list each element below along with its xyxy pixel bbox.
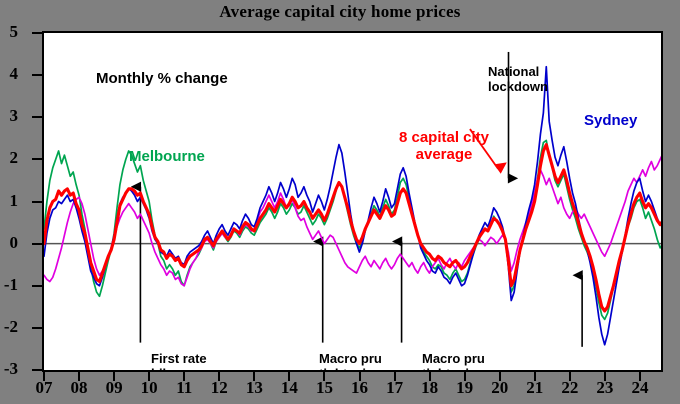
x-tick-label: 09	[97, 378, 131, 398]
y-tick-label: -1	[0, 275, 18, 295]
x-tick-mark	[183, 372, 185, 381]
y-tick-mark	[32, 285, 42, 287]
x-tick-mark	[359, 372, 361, 381]
x-tick-mark	[323, 372, 325, 381]
x-tick-mark	[148, 372, 150, 381]
x-tick-label: 11	[167, 378, 201, 398]
subtitle-monthly-change: Monthly % change	[96, 71, 228, 88]
y-tick-mark	[32, 74, 42, 76]
y-tick-label: -2	[0, 317, 18, 337]
x-tick-label: 21	[518, 378, 552, 398]
x-tick-mark	[113, 372, 115, 381]
x-tick-label: 24	[623, 378, 657, 398]
page-title: Average capital city home prices	[0, 2, 680, 22]
x-tick-mark	[78, 372, 80, 381]
y-tick-label: 1	[0, 191, 18, 211]
annotation-macro-pru-1: Macro pru tightening	[319, 351, 382, 372]
x-tick-label: 23	[588, 378, 622, 398]
x-tick-mark	[43, 372, 45, 381]
series-label-average: 8 capital city average	[384, 130, 504, 164]
x-tick-mark	[253, 372, 255, 381]
x-tick-label: 18	[413, 378, 447, 398]
y-tick-label: 0	[0, 233, 18, 253]
x-tick-mark	[394, 372, 396, 381]
x-tick-label: 07	[27, 378, 61, 398]
x-tick-label: 17	[378, 378, 412, 398]
y-tick-mark	[32, 201, 42, 203]
x-tick-label: 14	[272, 378, 306, 398]
x-tick-label: 08	[62, 378, 96, 398]
annotation-first-rate-hike-1: First rate hike	[151, 351, 207, 372]
series-label-sydney: Sydney	[584, 113, 637, 130]
x-tick-mark	[569, 372, 571, 381]
y-tick-mark	[32, 116, 42, 118]
x-tick-label: 16	[343, 378, 377, 398]
x-tick-mark	[499, 372, 501, 381]
annotation-national-lockdown: National lockdown	[488, 64, 548, 95]
y-tick-label: 3	[0, 106, 18, 126]
plot-area: Monthly % change Melbourne 8 capital cit…	[42, 31, 663, 372]
x-tick-label: 15	[307, 378, 341, 398]
x-tick-mark	[639, 372, 641, 381]
annotation-macro-pru-2: Macro pru tightening	[422, 351, 485, 372]
y-tick-label: 5	[0, 22, 18, 42]
x-tick-mark	[429, 372, 431, 381]
y-tick-mark	[32, 369, 42, 371]
y-tick-label: -3	[0, 359, 18, 379]
series-label-melbourne: Melbourne	[129, 149, 205, 166]
y-tick-mark	[32, 158, 42, 160]
x-tick-label: 10	[132, 378, 166, 398]
y-tick-mark	[32, 32, 42, 34]
y-tick-label: 4	[0, 64, 18, 84]
y-tick-mark	[32, 243, 42, 245]
x-tick-label: 13	[237, 378, 271, 398]
y-tick-mark	[32, 327, 42, 329]
x-tick-label: 19	[448, 378, 482, 398]
x-tick-label: 12	[202, 378, 236, 398]
x-tick-mark	[288, 372, 290, 381]
x-tick-mark	[604, 372, 606, 381]
x-tick-mark	[218, 372, 220, 381]
chart-root: Average capital city home prices 543210-…	[0, 0, 680, 404]
x-tick-label: 20	[483, 378, 517, 398]
series-line-sydney	[44, 67, 661, 345]
y-tick-label: 2	[0, 148, 18, 168]
x-tick-mark	[464, 372, 466, 381]
x-tick-label: 22	[553, 378, 587, 398]
x-tick-mark	[534, 372, 536, 381]
